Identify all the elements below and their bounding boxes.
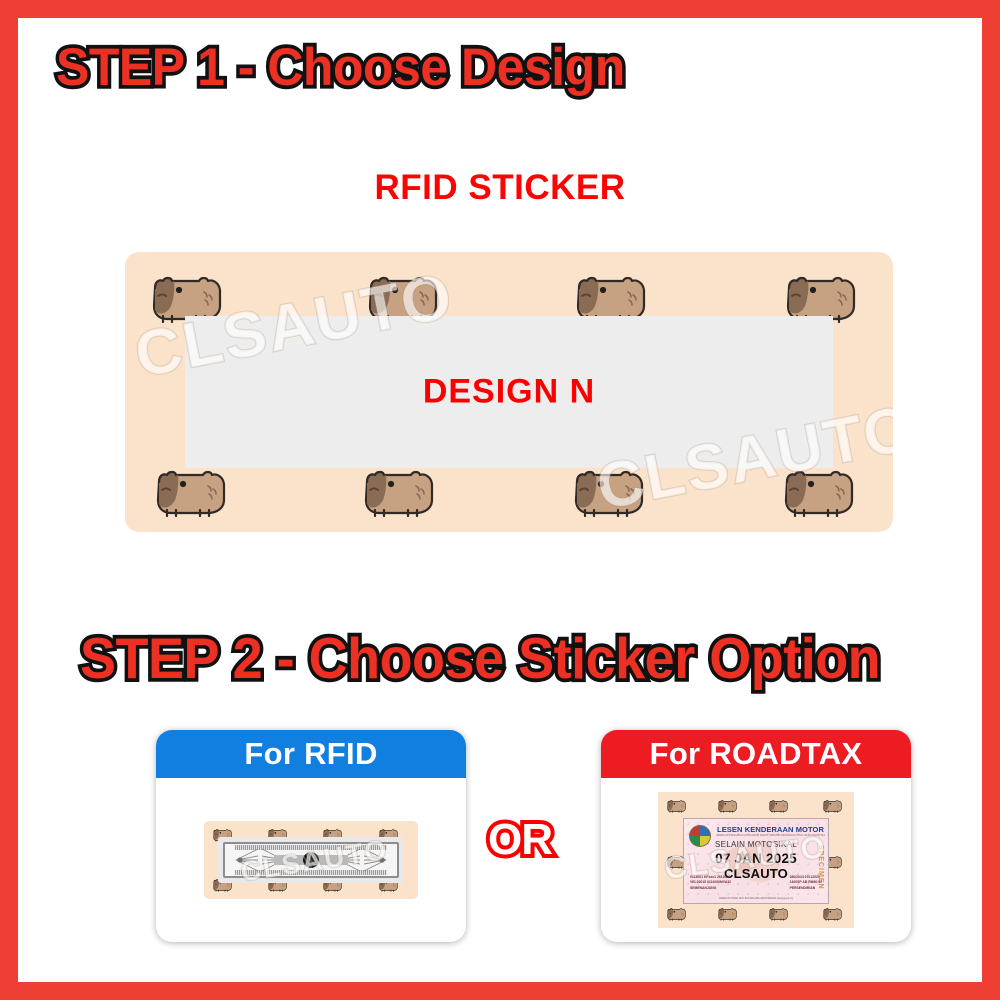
card-body-rfid: CLSAUTO [156,778,466,942]
step1-heading: STEP 1 - Choose Design [56,36,625,97]
card-header-label: For RFID [244,736,377,772]
sticker-inner-panel: DESIGN N [185,316,833,468]
roadtax-left-details: 0114001 KFxxx1 2612023 VEL02015 011400/I… [690,875,731,891]
capybara-icon [145,464,237,524]
roadtax-license-card: LESEN KENDERAAN MOTOR LEMBAGA PENGANGKUT… [683,818,829,904]
page-root: STEP 1 - Choose Design RFID STICKER [0,0,1000,1000]
product-title: RFID STICKER [18,168,982,208]
mini-roadtax-sticker: LESEN KENDERAAN MOTOR LEMBAGA PENGANGKUT… [658,792,854,928]
design-label: DESIGN N [185,373,833,412]
card-header-roadtax: For ROADTAX [601,730,911,778]
content-frame: STEP 1 - Choose Design RFID STICKER [18,18,982,982]
option-card-roadtax[interactable]: For ROADTAX [601,730,911,942]
sticker-preview[interactable]: DESIGN N [125,252,893,532]
roadtax-microtext: LEMBAGA PENGANGKUTAN AWAM DARAT JABATAN … [716,834,825,837]
card-header-rfid: For RFID [156,730,466,778]
mini-rfid-sticker: CLSAUTO [204,821,418,899]
roadtax-subtitle: SELAIN MOTOSIKAL [684,840,828,849]
capybara-icon [715,798,740,815]
rfid-chip-icon [303,852,319,868]
capybara-icon [766,906,791,923]
capybara-icon [773,464,865,524]
rfid-tag-icon [218,837,404,883]
capybara-icon [353,464,445,524]
card-header-label: For ROADTAX [650,736,863,772]
capybara-icon [820,798,845,815]
capybara-icon [664,906,689,923]
roadtax-footer-text: LESEN INI TIDAK SAH JIKA ADA APA-APA PIN… [684,897,828,900]
card-body-roadtax: LESEN KENDERAAN MOTOR LEMBAGA PENGANGKUT… [601,778,911,942]
rfid-tag-body [223,842,399,878]
capybara-icon [563,464,655,524]
option-card-rfid[interactable]: For RFID [156,730,466,942]
capybara-icon [820,906,845,923]
capybara-icon [766,798,791,815]
capybara-icon [664,798,689,815]
roadtax-expiry-date: 07 JAN 2025 [684,851,828,866]
step2-heading: STEP 2 - Choose Sticker Option [80,626,880,692]
roadtax-title: LESEN KENDERAAN MOTOR [716,825,825,834]
capybara-icon [715,906,740,923]
or-divider: OR [488,815,552,865]
roadtax-right-details: 080/2024 07012025 1400SP AB RM60.00 PERS… [790,875,822,891]
